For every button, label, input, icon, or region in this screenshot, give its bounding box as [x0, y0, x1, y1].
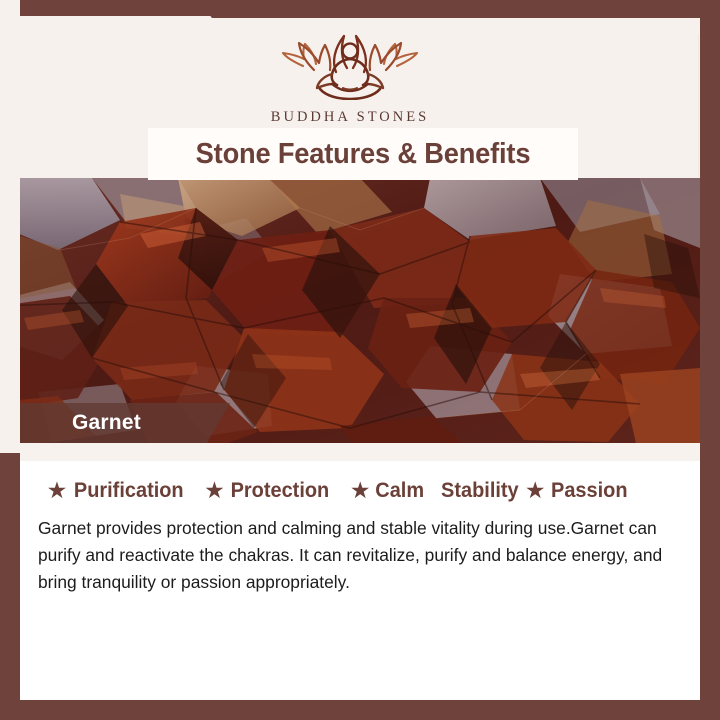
page-title: Stone Features & Benefits — [196, 138, 531, 171]
benefit-item-stability: Stability — [439, 479, 521, 503]
benefits-row: ★ Purification ★ Protection ★ Calm Stabi… — [48, 479, 678, 503]
benefit-label: Passion — [551, 479, 628, 503]
star-icon: ★ — [526, 481, 544, 501]
frame-left-upper-cream — [0, 0, 20, 453]
benefit-item-calm: ★ Calm — [351, 479, 425, 503]
frame-right-edge — [700, 0, 720, 720]
frame-bottom-edge — [0, 700, 720, 720]
benefit-item-passion: ★ Passion — [526, 479, 629, 503]
star-icon: ★ — [205, 481, 223, 501]
lotus-meditation-icon — [270, 26, 430, 105]
content-top-strip — [20, 443, 700, 461]
content-card: ★ Purification ★ Protection ★ Calm Stabi… — [20, 443, 700, 700]
stone-description: Garnet provides protection and calming a… — [38, 515, 684, 596]
stone-name-banner: Garnet — [0, 403, 230, 443]
star-icon: ★ — [48, 481, 66, 501]
benefit-item-protection: ★ Protection — [205, 479, 332, 503]
brand-name: BUDDHA STONES — [271, 109, 429, 126]
star-icon: ★ — [351, 481, 369, 501]
benefit-item-purification: ★ Purification — [48, 479, 186, 503]
benefit-label: Protection — [231, 479, 330, 503]
title-panel: Stone Features & Benefits — [148, 128, 578, 180]
benefit-label: Calm — [375, 479, 424, 503]
stone-name: Garnet — [72, 411, 141, 435]
benefit-label: Purification — [74, 479, 184, 503]
brand-header: BUDDHA STONES — [0, 16, 700, 134]
stone-feature-poster: BUDDHA STONES Stone Features & Benefits — [0, 0, 720, 720]
benefit-label: Stability — [441, 479, 519, 503]
